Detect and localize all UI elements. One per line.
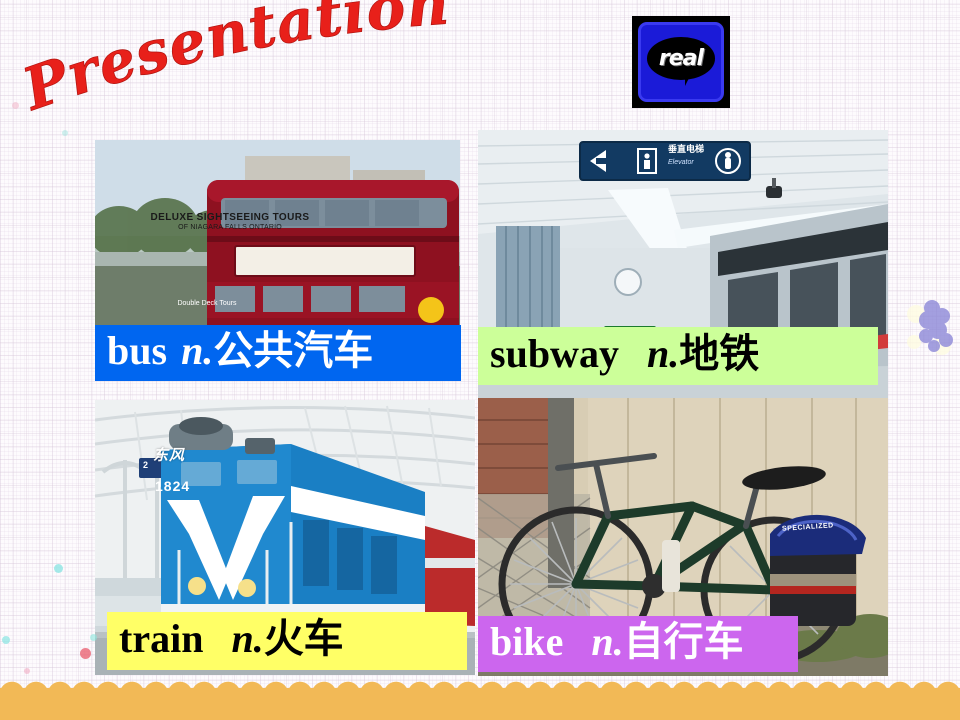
bus-sign-line2: OF NIAGARA FALLS ONTARIO [142, 224, 318, 231]
realplayer-logo[interactable]: real [632, 16, 730, 108]
decor-dot [62, 130, 68, 136]
subway-sign-en: Elevator [668, 159, 694, 166]
label-pos-subway: n. [647, 334, 679, 374]
bus-side-text: Double Deck Tours [147, 300, 267, 307]
page-title-glyphs: Presentation [13, 0, 452, 124]
label-english-bike: bike [490, 622, 563, 662]
train-loco-number: 1824 [155, 478, 190, 494]
label-pos-train: n. [231, 619, 263, 659]
label-english-bus: bus [107, 331, 167, 371]
realplayer-logo-word: real [641, 46, 721, 71]
train-loco-cn: 东风 [153, 444, 185, 465]
label-bar-bike: bike n. 自行车 [478, 616, 798, 672]
flower-decoration-right [902, 296, 956, 362]
label-english-train: train [119, 619, 203, 659]
subway-sign-cn: 垂直电梯 [668, 146, 704, 156]
bus-sign: DELUXE SIGHTSEEING TOURS OF NIAGARA FALL… [142, 212, 318, 231]
bottom-scalloped-border [0, 672, 960, 720]
label-bar-bus: bus n. 公共汽车 [95, 325, 461, 381]
realplayer-logo-panel: real [638, 22, 724, 102]
label-pos-bus: n. [181, 331, 213, 371]
label-chinese-subway: 地铁 [679, 334, 759, 374]
slide-title: Presentation Presentation [18, 14, 488, 124]
label-bar-subway: subway n. 地铁 [478, 327, 878, 385]
decor-dot [2, 636, 10, 644]
label-bar-train: train n. 火车 [107, 612, 467, 670]
label-chinese-train: 火车 [264, 619, 344, 659]
page-title-text: Presentation [13, 0, 452, 124]
label-english-subway: subway [490, 334, 619, 374]
label-pos-bike: n. [591, 622, 623, 662]
bus-sign-line1: DELUXE SIGHTSEEING TOURS [142, 212, 318, 223]
label-chinese-bike: 自行车 [624, 622, 744, 662]
decor-dot [54, 564, 63, 573]
label-chinese-bus: 公共汽车 [213, 331, 373, 371]
decor-dot [80, 648, 91, 659]
train-platform-number: 2 [143, 460, 148, 470]
border-band [0, 688, 960, 720]
